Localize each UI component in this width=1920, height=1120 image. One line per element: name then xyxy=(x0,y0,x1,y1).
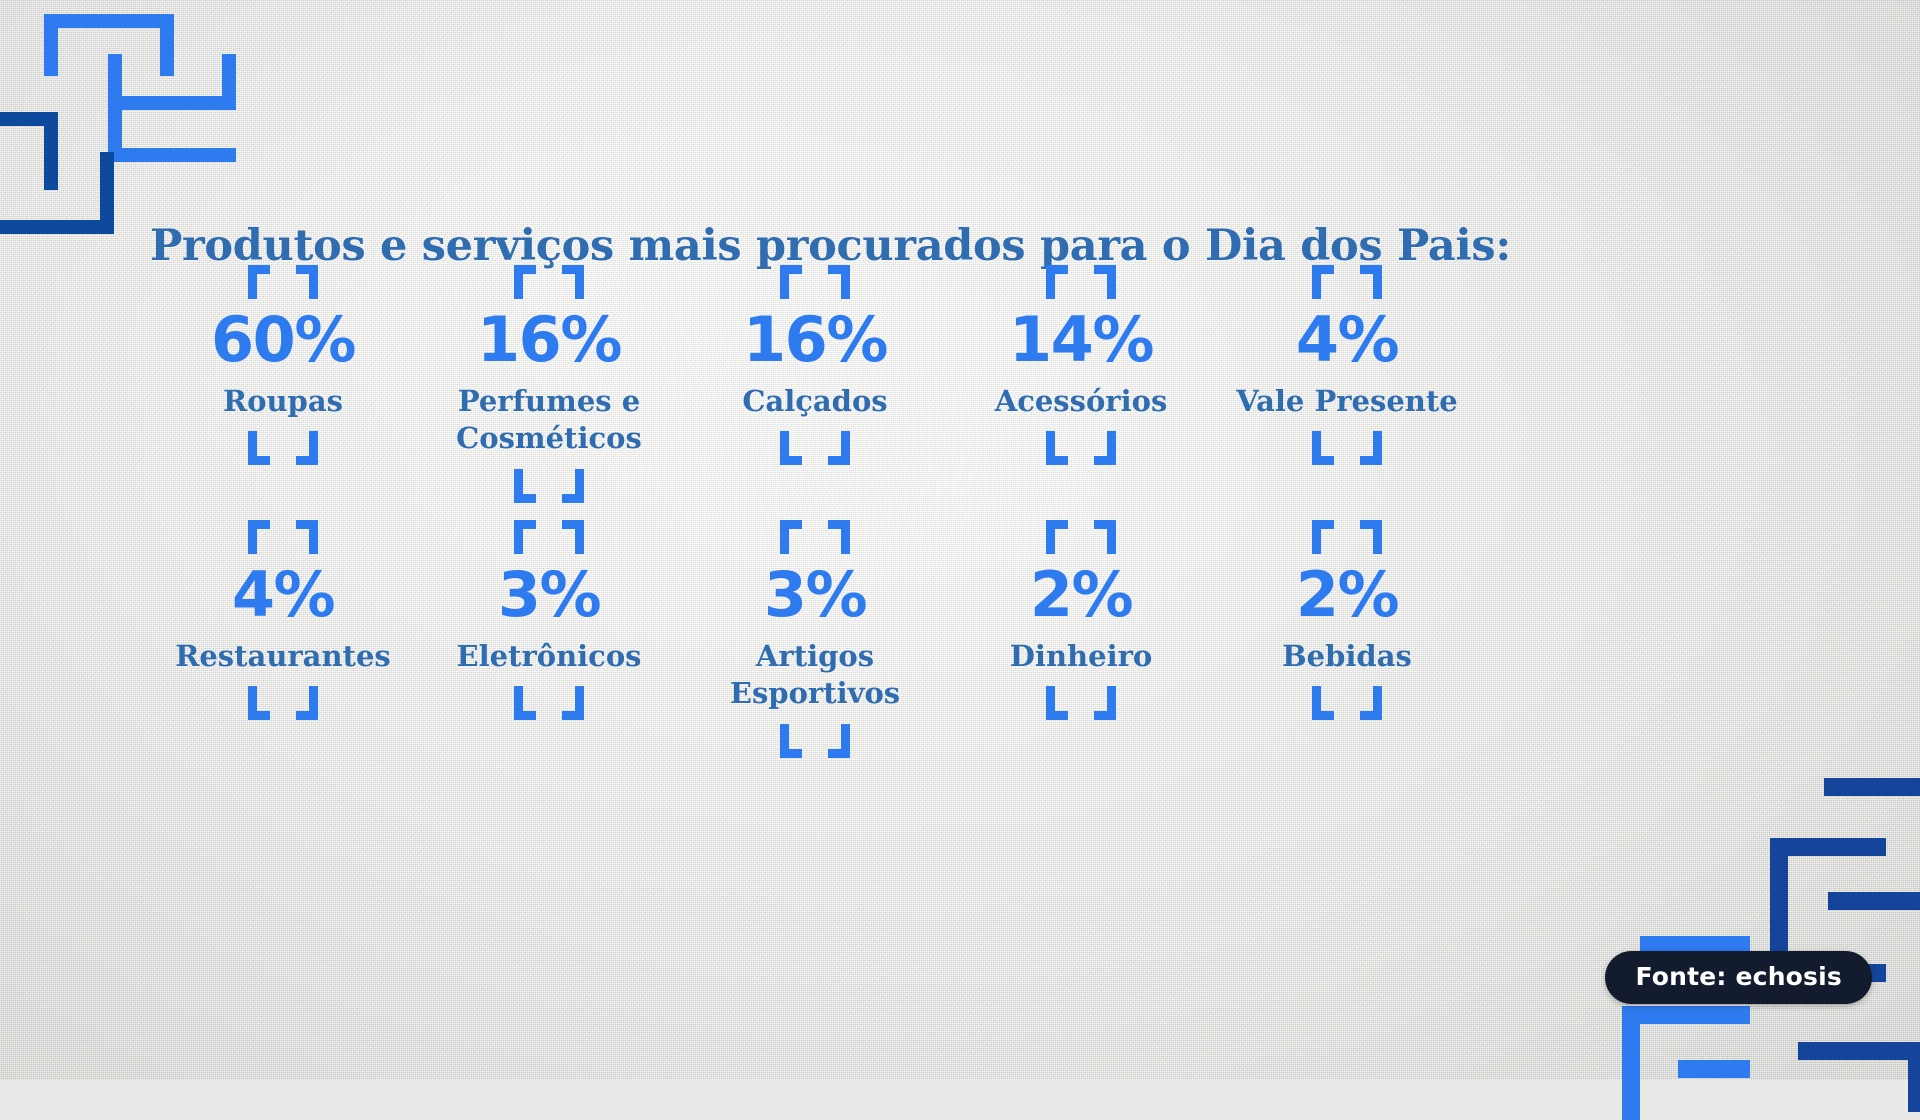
stat-value: 2% xyxy=(1296,564,1398,626)
stat-label: Acessórios xyxy=(995,383,1168,420)
deco-bracket-bright-5 xyxy=(108,96,236,110)
deco-br-navy-6 xyxy=(1798,1042,1920,1060)
stat-value: 4% xyxy=(232,564,334,626)
stat-item-dinheiro: 2% Dinheiro xyxy=(948,520,1214,675)
stat-value: 3% xyxy=(498,564,600,626)
stat-label: Perfumes e Cosméticos xyxy=(456,383,642,457)
stat-value: 16% xyxy=(743,309,887,371)
stat-label: Restaurantes xyxy=(175,638,390,675)
deco-bracket-bright-7 xyxy=(222,54,236,110)
deco-bracket-bright-1 xyxy=(44,14,174,28)
stat-label: Roupas xyxy=(223,383,343,420)
source-badge: Fonte: echosis xyxy=(1605,951,1872,1004)
stat-value: 16% xyxy=(477,309,621,371)
deco-br-navy-7 xyxy=(1908,1042,1920,1112)
stat-item-bebidas: 2% Bebidas xyxy=(1214,520,1480,675)
stat-value: 4% xyxy=(1296,309,1398,371)
deco-bracket-navy-2 xyxy=(44,112,58,190)
deco-bracket-bright-6 xyxy=(108,148,236,162)
decoration-bottom-right xyxy=(1610,760,1920,1120)
stat-label: Calçados xyxy=(742,383,887,420)
stat-label: Eletrônicos xyxy=(456,638,641,675)
stat-label: Dinheiro xyxy=(1010,638,1152,675)
stat-label: Vale Presente xyxy=(1236,383,1457,420)
stat-label: Artigos Esportivos xyxy=(730,638,900,712)
deco-br-navy-4 xyxy=(1828,892,1920,910)
stat-item-vale-presente: 4% Vale Presente xyxy=(1214,265,1480,420)
deco-br-bright-5 xyxy=(1678,1060,1750,1078)
stat-value: 14% xyxy=(1009,309,1153,371)
stat-item-roupas: 60% Roupas xyxy=(150,265,416,420)
stat-item-eletronicos: 3% Eletrônicos xyxy=(416,520,682,675)
deco-br-navy-1 xyxy=(1824,778,1920,796)
stat-item-acessorios: 14% Acessórios xyxy=(948,265,1214,420)
page-title: Produtos e serviços mais procurados para… xyxy=(150,221,1511,271)
deco-bracket-bright-2 xyxy=(44,14,58,76)
deco-bracket-bright-3 xyxy=(160,14,174,76)
stat-item-restaurantes: 4% Restaurantes xyxy=(150,520,416,675)
stat-item-artigos-esportivos: 3% Artigos Esportivos xyxy=(682,520,948,712)
stat-value: 2% xyxy=(1030,564,1132,626)
deco-br-bright-4 xyxy=(1622,1006,1750,1024)
deco-br-navy-3 xyxy=(1770,838,1886,856)
stat-item-perfumes-e-cosmeticos: 16% Perfumes e Cosméticos xyxy=(416,265,682,457)
deco-bracket-navy-5 xyxy=(100,152,114,234)
stat-value: 60% xyxy=(211,309,355,371)
stats-row-1: 60% Roupas 16% Perfumes e Cosméticos xyxy=(150,265,1480,520)
stats-grid: 60% Roupas 16% Perfumes e Cosméticos xyxy=(150,265,1480,775)
stat-value: 3% xyxy=(764,564,866,626)
stat-label: Bebidas xyxy=(1282,638,1412,675)
deco-bracket-navy-4 xyxy=(0,220,114,234)
stat-item-calcados: 16% Calçados xyxy=(682,265,948,420)
stats-row-2: 4% Restaurantes 3% Eletrônicos xyxy=(150,520,1480,775)
